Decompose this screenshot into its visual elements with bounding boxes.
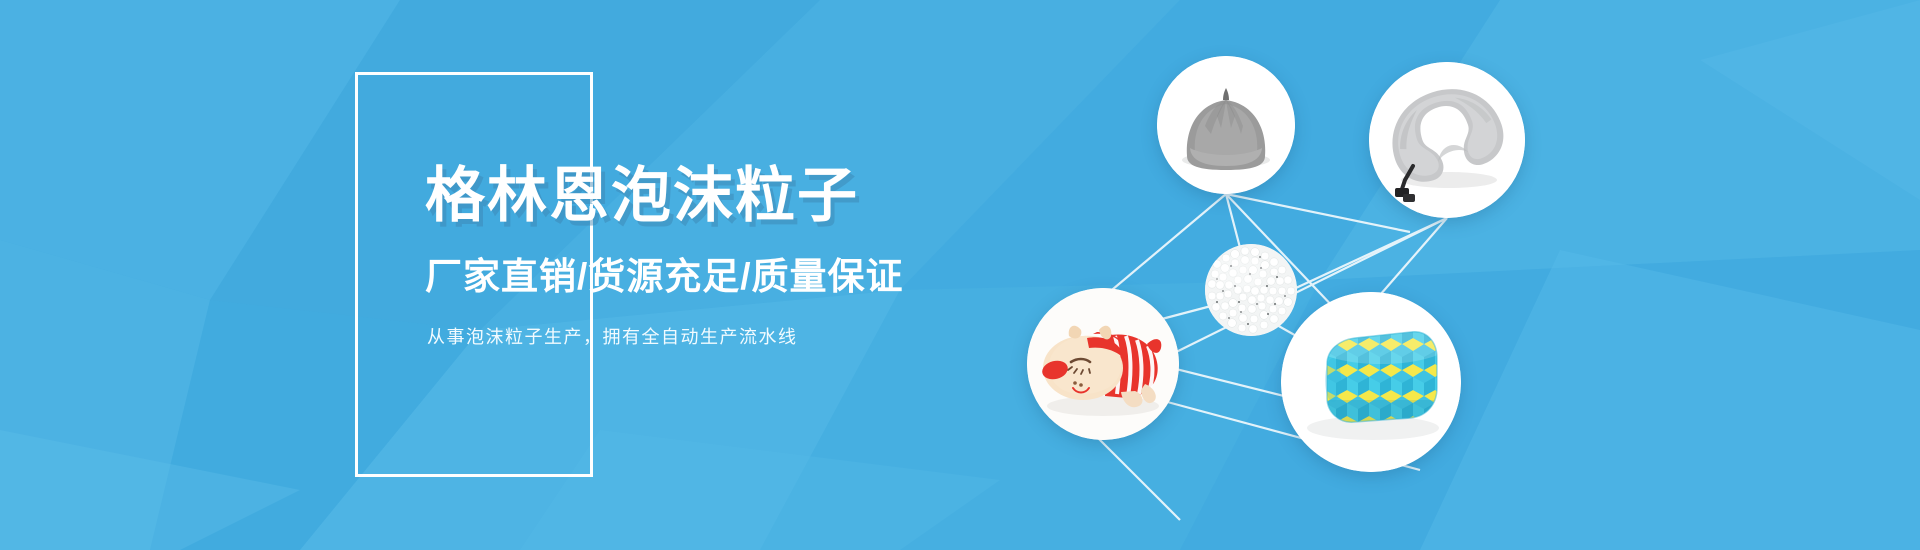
page-title: 格林恩泡沫粒子 — [425, 166, 859, 226]
banner-text-block: 格林恩泡沫粒子 厂家直销/货源充足/质量保证 从事泡沫粒子生产，拥有全自动生产流… — [355, 72, 955, 477]
product-circle-foambeads[interactable] — [1205, 244, 1297, 336]
neckpillow-image — [1369, 62, 1525, 218]
foam-beads-icon — [1205, 244, 1297, 336]
product-circle-pigplush[interactable] — [1027, 288, 1179, 440]
product-circle-cubepillow[interactable] — [1281, 292, 1461, 472]
neck-pillow-icon — [1369, 62, 1525, 218]
promo-banner: 格林恩泡沫粒子 厂家直销/货源充足/质量保证 从事泡沫粒子生产，拥有全自动生产流… — [0, 0, 1920, 550]
product-circle-neckpillow[interactable] — [1369, 62, 1525, 218]
banner-subheadline: 厂家直销/货源充足/质量保证 — [425, 258, 904, 295]
cubepillow-image — [1281, 292, 1461, 472]
beanbag-image — [1157, 56, 1295, 194]
pig-plush-toy-icon — [1027, 288, 1179, 440]
pigplush-image — [1027, 288, 1179, 440]
cube-pattern-pillow-icon — [1281, 292, 1461, 472]
bean-bag-chair-icon — [1157, 56, 1295, 194]
product-circle-beanbag[interactable] — [1157, 56, 1295, 194]
banner-tagline: 从事泡沫粒子生产，拥有全自动生产流水线 — [427, 328, 798, 346]
background-polygons — [0, 0, 1920, 550]
